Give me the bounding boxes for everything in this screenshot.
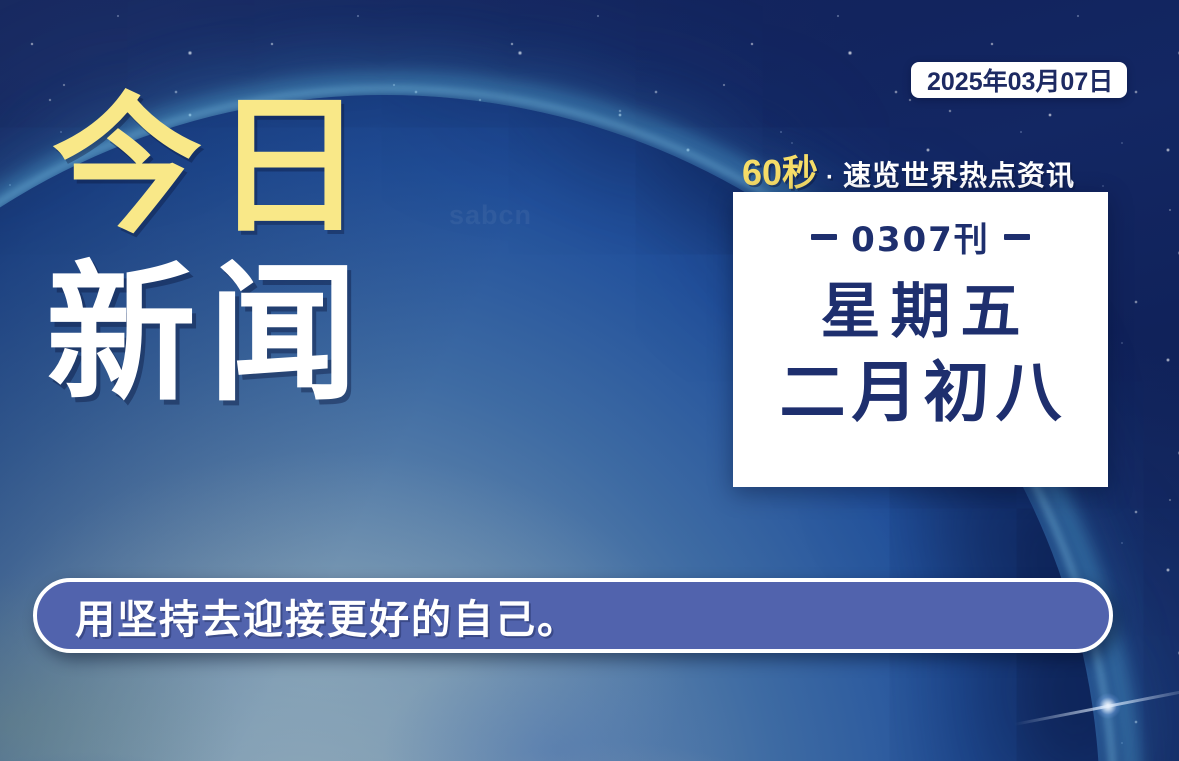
info-card: 0307刊 星期五 二月初八 xyxy=(733,192,1108,487)
masthead-line-news: 新闻 xyxy=(46,260,472,410)
card-issue-row: 0307刊 xyxy=(811,212,1030,261)
quote-text: 用坚持去迎接更好的自己。 xyxy=(75,587,579,645)
card-lunar-date: 二月初八 xyxy=(774,358,1068,427)
card-weekday: 星期五 xyxy=(811,281,1031,344)
news-poster: sabcn 今日 新闻 2025年03月07日 60秒 · 速览世界热点资讯 0… xyxy=(0,0,1179,761)
tagline-duration: 60秒 xyxy=(742,144,818,196)
tagline-separator: · xyxy=(826,164,834,192)
tagline-text: 速览世界热点资讯 xyxy=(843,154,1075,194)
date-badge-text: 2025年03月07日 xyxy=(927,62,1113,98)
card-issue-text: 0307刊 xyxy=(851,212,990,261)
masthead: 今日 新闻 xyxy=(52,92,472,410)
dash-left-icon xyxy=(811,234,837,240)
tagline: 60秒 · 速览世界热点资讯 xyxy=(742,144,1075,196)
quote-banner: 用坚持去迎接更好的自己。 xyxy=(33,578,1113,653)
dash-right-icon xyxy=(1004,234,1030,240)
star-flare-icon xyxy=(1095,693,1121,719)
date-badge: 2025年03月07日 xyxy=(911,62,1127,98)
masthead-line-today: 今日 xyxy=(52,92,472,242)
